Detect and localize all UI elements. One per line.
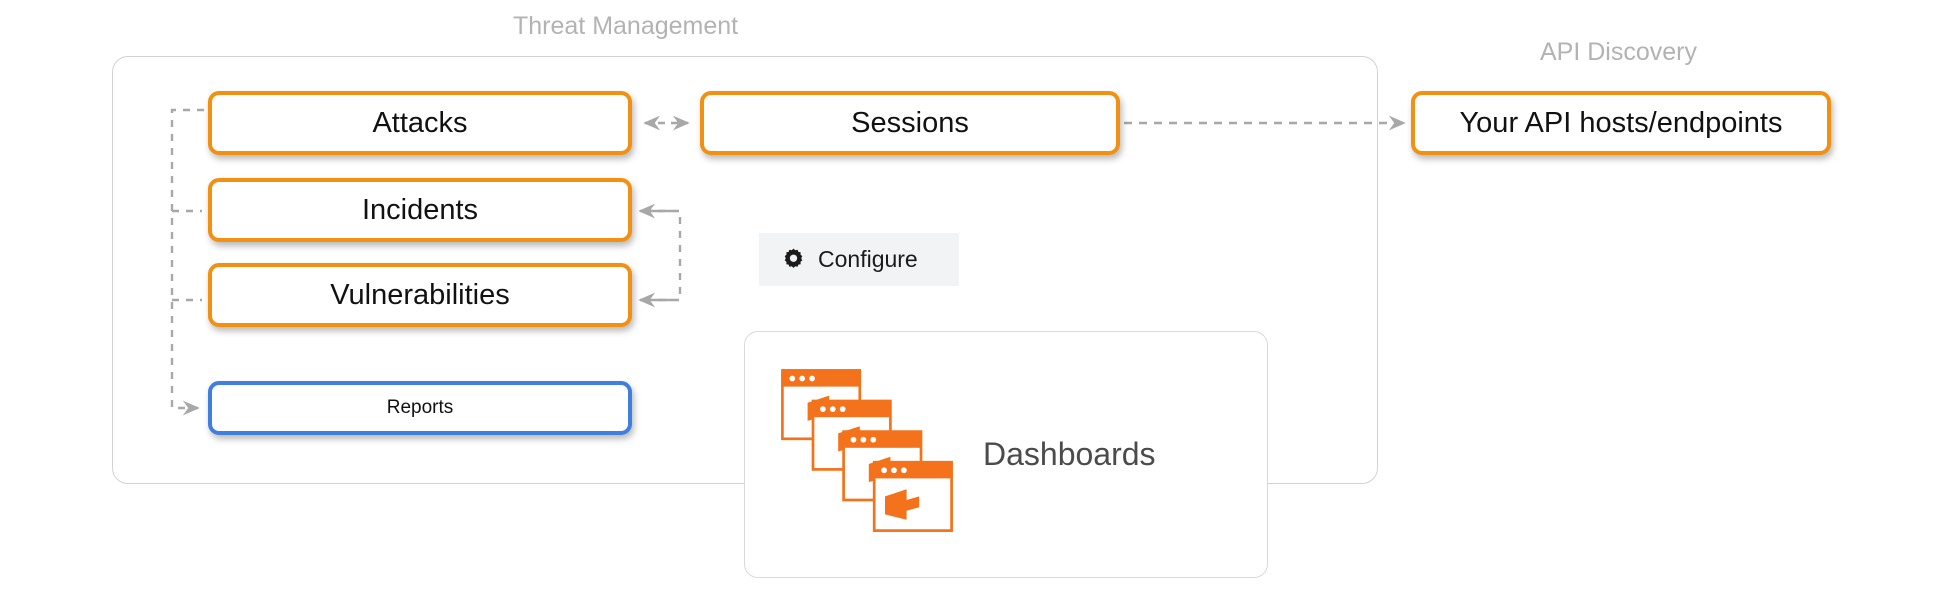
configure-button[interactable]: Configure — [759, 233, 959, 286]
dashboard-windows-stack-icon — [777, 365, 957, 545]
group-label-threat-management: Threat Management — [513, 14, 738, 39]
node-attacks-label: Attacks — [372, 107, 467, 140]
node-reports-label: Reports — [387, 397, 454, 419]
dashboards-panel-label: Dashboards — [983, 436, 1156, 473]
node-sessions[interactable]: Sessions — [700, 91, 1120, 155]
group-label-api-discovery: API Discovery — [1540, 40, 1697, 65]
node-api-hosts-label: Your API hosts/endpoints — [1460, 107, 1783, 140]
node-incidents-label: Incidents — [362, 194, 478, 227]
gear-icon — [781, 247, 806, 272]
node-reports[interactable]: Reports — [208, 381, 632, 435]
diagram-canvas: Sessions --> API hosts --> Threat Manage… — [0, 0, 1938, 592]
node-incidents[interactable]: Incidents — [208, 178, 632, 242]
node-attacks[interactable]: Attacks — [208, 91, 632, 155]
dashboards-panel[interactable]: Dashboards — [744, 331, 1268, 578]
node-vulnerabilities[interactable]: Vulnerabilities — [208, 263, 632, 327]
configure-button-label: Configure — [818, 246, 918, 273]
node-sessions-label: Sessions — [851, 107, 969, 140]
node-vulnerabilities-label: Vulnerabilities — [330, 279, 509, 312]
node-api-hosts[interactable]: Your API hosts/endpoints — [1411, 91, 1831, 155]
